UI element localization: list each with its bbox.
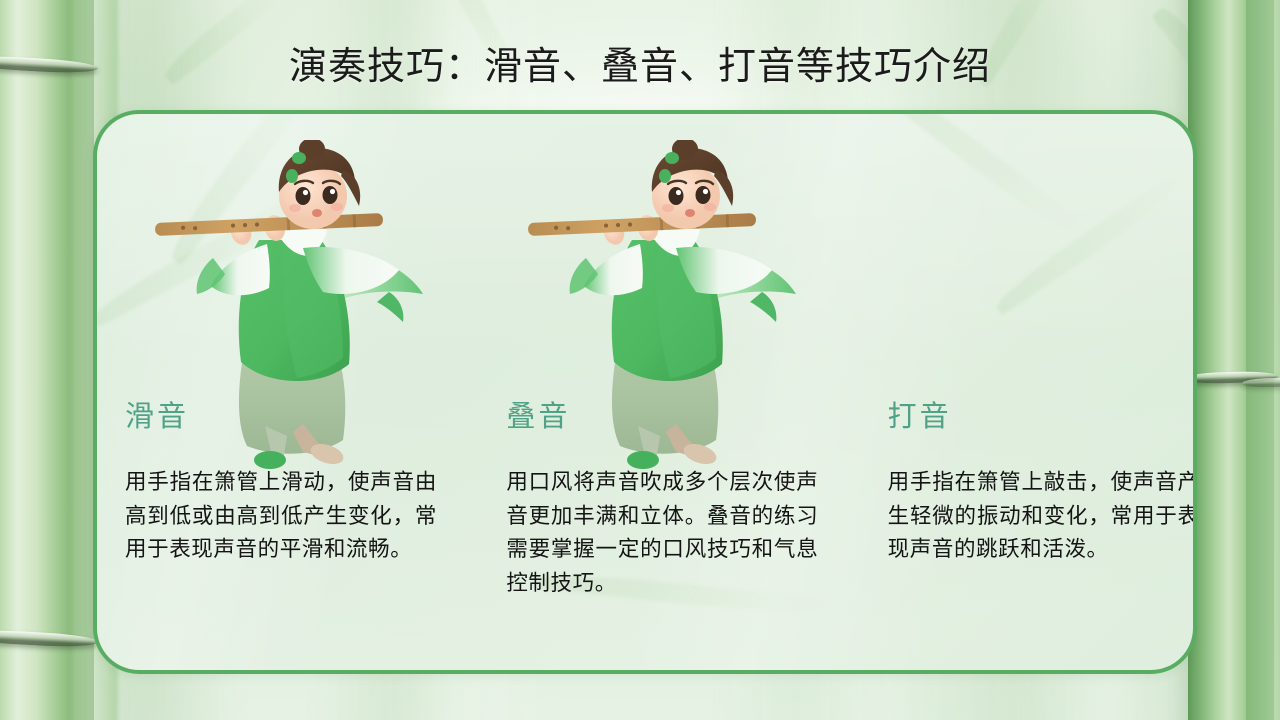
- content-card: 滑音 用手指在箫管上滑动，使声音由高到低或由高到低产生变化，常用于表现声音的平滑…: [93, 110, 1197, 674]
- technique-term: 打音: [888, 399, 952, 435]
- technique-column: 打音 用手指在箫管上敲击，使声音产生轻微的振动和变化，常用于表现声音的跳跃和活泼…: [828, 114, 1193, 670]
- technique-term: 滑音: [125, 399, 189, 435]
- technique-description: 用口风将声音吹成多个层次使声音更加丰满和立体。叠音的练习需要掌握一定的口风技巧和…: [506, 466, 818, 600]
- technique-term: 叠音: [506, 399, 570, 435]
- technique-column: 叠音 用口风将声音吹成多个层次使声音更加丰满和立体。叠音的练习需要掌握一定的口风…: [462, 114, 827, 670]
- technique-column: 滑音 用手指在箫管上滑动，使声音由高到低或由高到低产生变化，常用于表现声音的平滑…: [97, 114, 462, 670]
- slide-title: 演奏技巧：滑音、叠音、打音等技巧介绍: [0, 44, 1280, 90]
- technique-description: 用手指在箫管上滑动，使声音由高到低或由高到低产生变化，常用于表现声音的平滑和流畅…: [125, 466, 437, 567]
- presentation-slide: 演奏技巧：滑音、叠音、打音等技巧介绍: [0, 0, 1280, 720]
- bamboo-stalk-right-secondary: [1246, 0, 1280, 720]
- technique-columns: 滑音 用手指在箫管上滑动，使声音由高到低或由高到低产生变化，常用于表现声音的平滑…: [97, 114, 1193, 670]
- technique-description: 用手指在箫管上敲击，使声音产生轻微的振动和变化，常用于表现声音的跳跃和活泼。: [888, 466, 1197, 567]
